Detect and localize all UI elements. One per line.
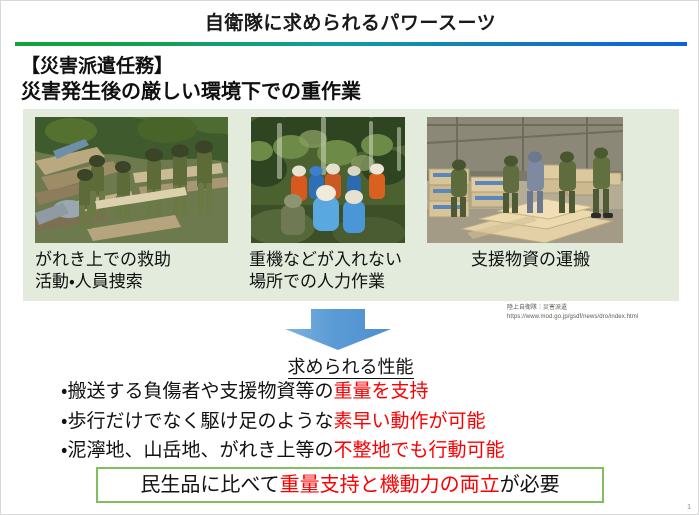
bullet-highlight-2: 素早い動作が可能 — [333, 411, 485, 432]
bullet-plain-1: 搬送する負傷者や支援物資等の — [67, 381, 333, 402]
page-number: 1 — [687, 504, 691, 511]
photo-caption-2-line2: 場所での人力作業 — [249, 271, 402, 293]
conclusion-box: 民生品に比べて重量支持と機動力の両立が必要 — [96, 467, 604, 503]
photo-caption-3-line1: 支援物資の運搬 — [471, 249, 590, 271]
bullet-highlight-1: 重量を支持 — [333, 381, 428, 402]
slide-root: 自衛隊に求められるパワースーツ 【災害派遣任務】 災害発生後の厳しい環境下での重… — [0, 0, 699, 515]
photo-panel: がれき上での救助 活動・人員捜索 重機などが入れない 場所での人力作業 支援物資… — [23, 109, 679, 301]
bullet-plain-3: 泥濘地、山岳地、がれき上等の — [67, 440, 333, 461]
forest-manual-work-photo — [251, 117, 405, 243]
down-arrow-icon — [283, 309, 393, 351]
forest-rescue-illustration — [251, 117, 405, 243]
requirement-bullet-2: ・歩行だけでなく駆け足のような素早い動作が可能 — [61, 406, 486, 433]
requirement-bullet-3: ・泥濘地、山岳地、がれき上等の不整地でも行動可能 — [61, 435, 505, 462]
section-subheading: 災害発生後の厳しい環境下での重作業 — [21, 75, 361, 104]
photo-caption-1-line1: がれき上での救助 — [35, 249, 171, 271]
requirement-bullet-1: ・搬送する負傷者や支援物資等の重量を支持 — [61, 376, 429, 403]
source-credit-title: 陸上自衛隊：災害派遣 — [507, 304, 638, 313]
photo-caption-1: がれき上での救助 活動・人員捜索 — [35, 249, 171, 293]
page-title: 自衛隊に求められるパワースーツ — [1, 8, 699, 35]
conclusion-highlight: 重量支持と機動力の両立 — [280, 474, 500, 496]
conclusion-text: 民生品に比べて重量支持と機動力の両立が必要 — [98, 469, 602, 501]
photo-row: がれき上での救助 活動・人員捜索 重機などが入れない 場所での人力作業 支援物資… — [23, 109, 679, 301]
bullet-highlight-3: 不整地でも行動可能 — [333, 440, 504, 461]
down-arrow-shape — [283, 309, 393, 351]
title-divider-bar — [15, 42, 687, 46]
photo-caption-2-line1: 重機などが入れない — [249, 249, 402, 271]
conclusion-plain-after: が必要 — [500, 474, 560, 496]
rubble-rescue-illustration — [35, 117, 228, 243]
supply-transport-photo — [427, 117, 623, 243]
photo-caption-2: 重機などが入れない 場所での人力作業 — [249, 249, 402, 293]
source-credit: 陸上自衛隊：災害派遣 https://www.mod.go.jp/gsdf/ne… — [507, 304, 638, 322]
photo-caption-1-line2: 活動・人員捜索 — [35, 271, 171, 293]
supply-transport-illustration — [427, 117, 623, 243]
conclusion-plain-before: 民生品に比べて — [140, 474, 279, 496]
rubble-rescue-photo — [35, 117, 228, 243]
section-bracket-heading: 【災害派遣任務】 — [21, 51, 173, 78]
bullet-plain-2: 歩行だけでなく駆け足のような — [67, 411, 333, 432]
photo-caption-3: 支援物資の運搬 — [471, 249, 590, 271]
source-credit-url: https://www.mod.go.jp/gsdf/news/dro/inde… — [507, 313, 638, 322]
